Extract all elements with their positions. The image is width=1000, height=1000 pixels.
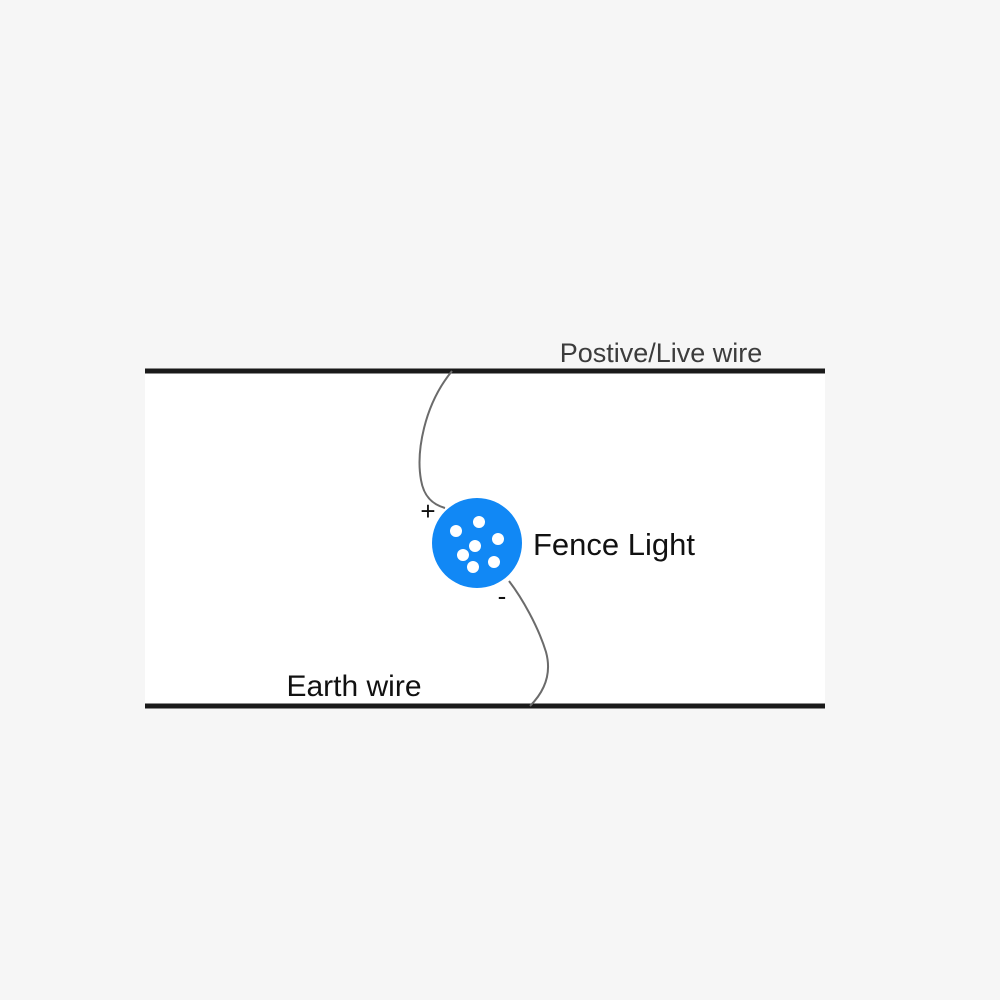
fence-light-label: Fence Light [533, 527, 695, 562]
lamp-dot [492, 533, 504, 545]
lamp-dot [469, 540, 481, 552]
lamp-dot [473, 516, 485, 528]
lamp-dot [457, 549, 469, 561]
lamp-dot [488, 556, 500, 568]
lamp-dot [467, 561, 479, 573]
positive-terminal-symbol: + [420, 496, 435, 526]
fence-light-wiring-diagram: Postive/Live wire Earth wire Fence Light… [0, 0, 1000, 1000]
lamp-dot [450, 525, 462, 537]
negative-terminal-symbol: - [498, 581, 507, 611]
positive-wire-label: Postive/Live wire [560, 338, 763, 368]
earth-wire-label: Earth wire [286, 670, 421, 703]
diagram-canvas: Postive/Live wire Earth wire Fence Light… [0, 0, 1000, 1000]
